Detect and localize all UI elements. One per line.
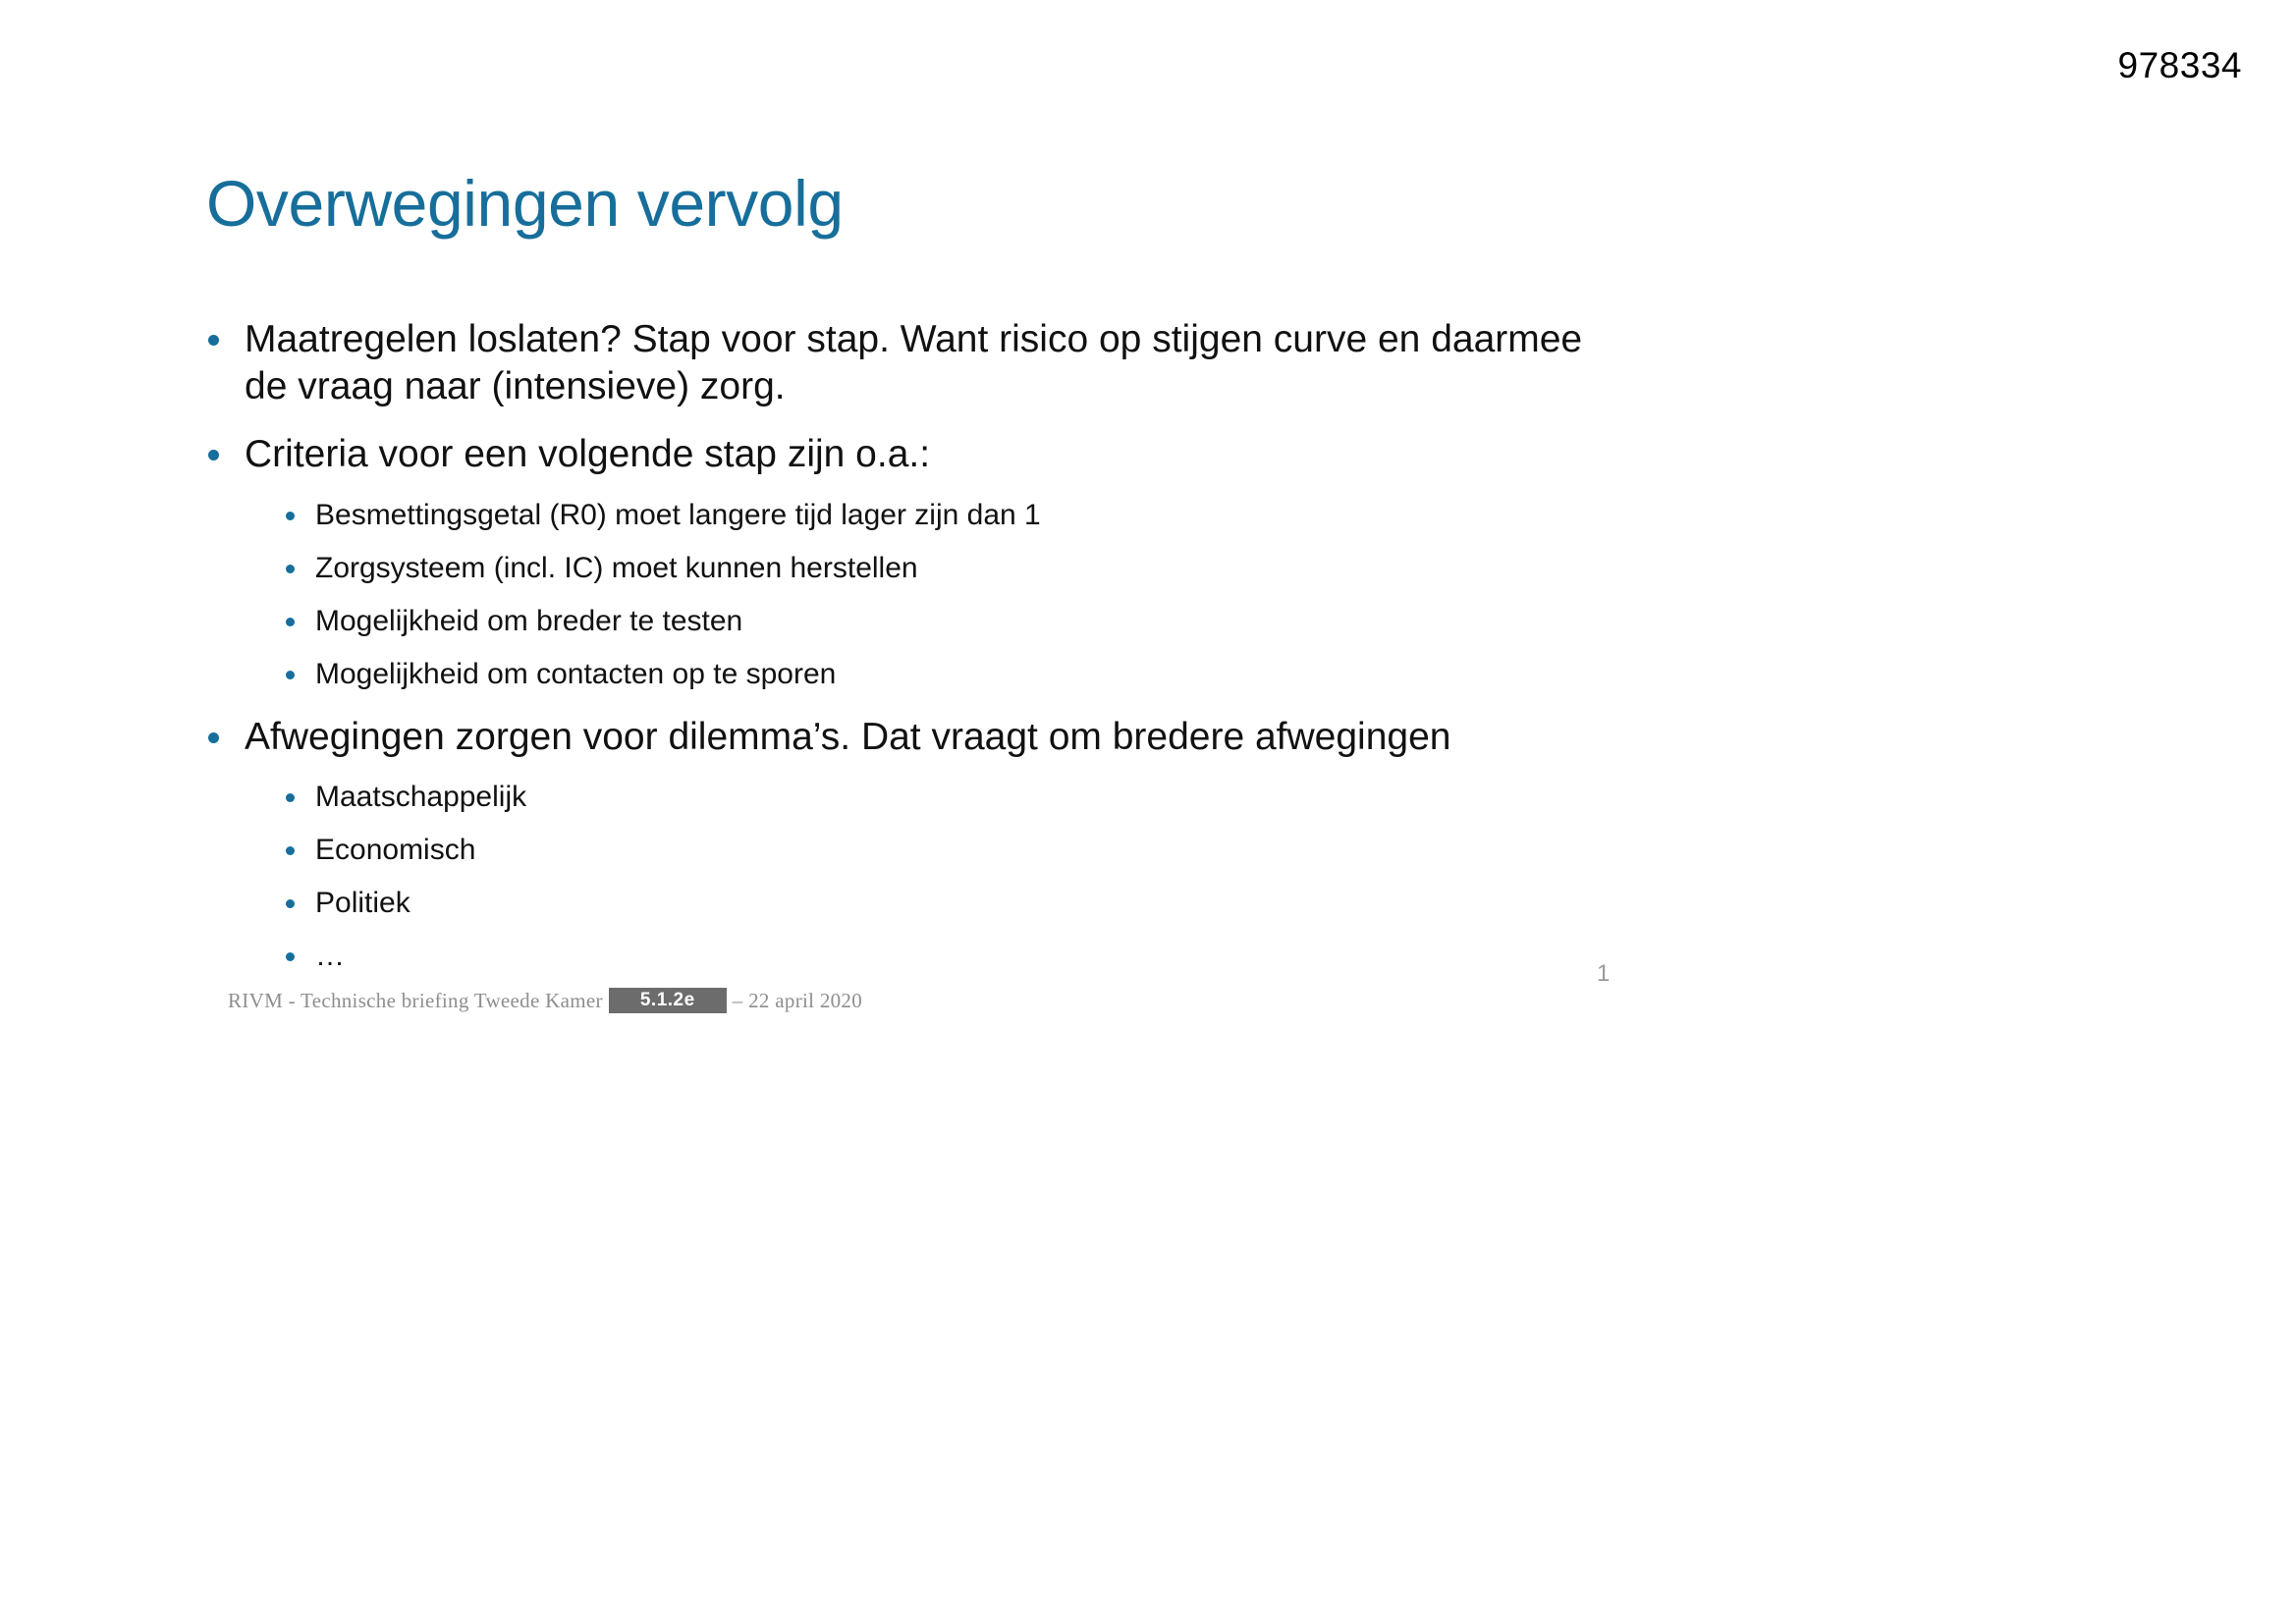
sub-bullet-item: Mogelijkheid om contacten op te sporen	[282, 657, 1611, 692]
sub-bullet-item: Zorgsysteem (incl. IC) moet kunnen herst…	[282, 551, 1611, 586]
bullet-item: Maatregelen loslaten? Stap voor stap. Wa…	[206, 316, 1611, 409]
slide-page: 978334 Overwegingen vervolg Maatregelen …	[0, 0, 2296, 1624]
sub-bullet-text: Economisch	[315, 834, 475, 866]
footer-suffix: – 22 april 2020	[733, 989, 862, 1013]
document-number: 978334	[2118, 47, 2242, 83]
sub-bullet-text: Zorgsysteem (incl. IC) moet kunnen herst…	[315, 552, 918, 584]
slide-footer: RIVM - Technische briefing Tweede Kamer …	[228, 988, 862, 1013]
sub-bullet-text: Besmettingsgetal (R0) moet langere tijd …	[315, 499, 1041, 531]
footer-prefix: RIVM - Technische briefing Tweede Kamer	[228, 989, 603, 1013]
sub-bullet-text: …	[315, 940, 345, 972]
bullet-text: Maatregelen loslaten? Stap voor stap. Wa…	[245, 316, 1611, 409]
bullet-list-level-2: Maatschappelijk Economisch Politiek …	[282, 780, 1611, 974]
sub-bullet-item: Economisch	[282, 833, 1611, 868]
sub-bullet-item: Politiek	[282, 886, 1611, 921]
sub-bullet-text: Politiek	[315, 887, 410, 919]
bullet-text: Afwegingen zorgen voor dilemma’s. Dat vr…	[245, 714, 1611, 761]
redaction-block: 5.1.2e	[609, 988, 727, 1013]
slide-body: Maatregelen loslaten? Stap voor stap. Wa…	[206, 316, 1611, 996]
page-number: 1	[1597, 962, 1610, 986]
sub-bullet-item: Maatschappelijk	[282, 780, 1611, 815]
sub-bullet-item: Besmettingsgetal (R0) moet langere tijd …	[282, 498, 1611, 533]
sub-bullet-text: Mogelijkheid om breder te testen	[315, 605, 742, 637]
bullet-item: Criteria voor een volgende stap zijn o.a…	[206, 431, 1611, 692]
sub-bullet-text: Maatschappelijk	[315, 781, 526, 813]
bullet-list-level-2: Besmettingsgetal (R0) moet langere tijd …	[282, 498, 1611, 692]
page-title: Overwegingen vervolg	[206, 169, 844, 239]
bullet-list-level-1: Maatregelen loslaten? Stap voor stap. Wa…	[206, 316, 1611, 974]
sub-bullet-item: Mogelijkheid om breder te testen	[282, 604, 1611, 639]
sub-bullet-text: Mogelijkheid om contacten op te sporen	[315, 658, 836, 690]
bullet-text: Criteria voor een volgende stap zijn o.a…	[245, 431, 1611, 478]
sub-bullet-item: …	[282, 939, 1611, 974]
bullet-item: Afwegingen zorgen voor dilemma’s. Dat vr…	[206, 714, 1611, 975]
